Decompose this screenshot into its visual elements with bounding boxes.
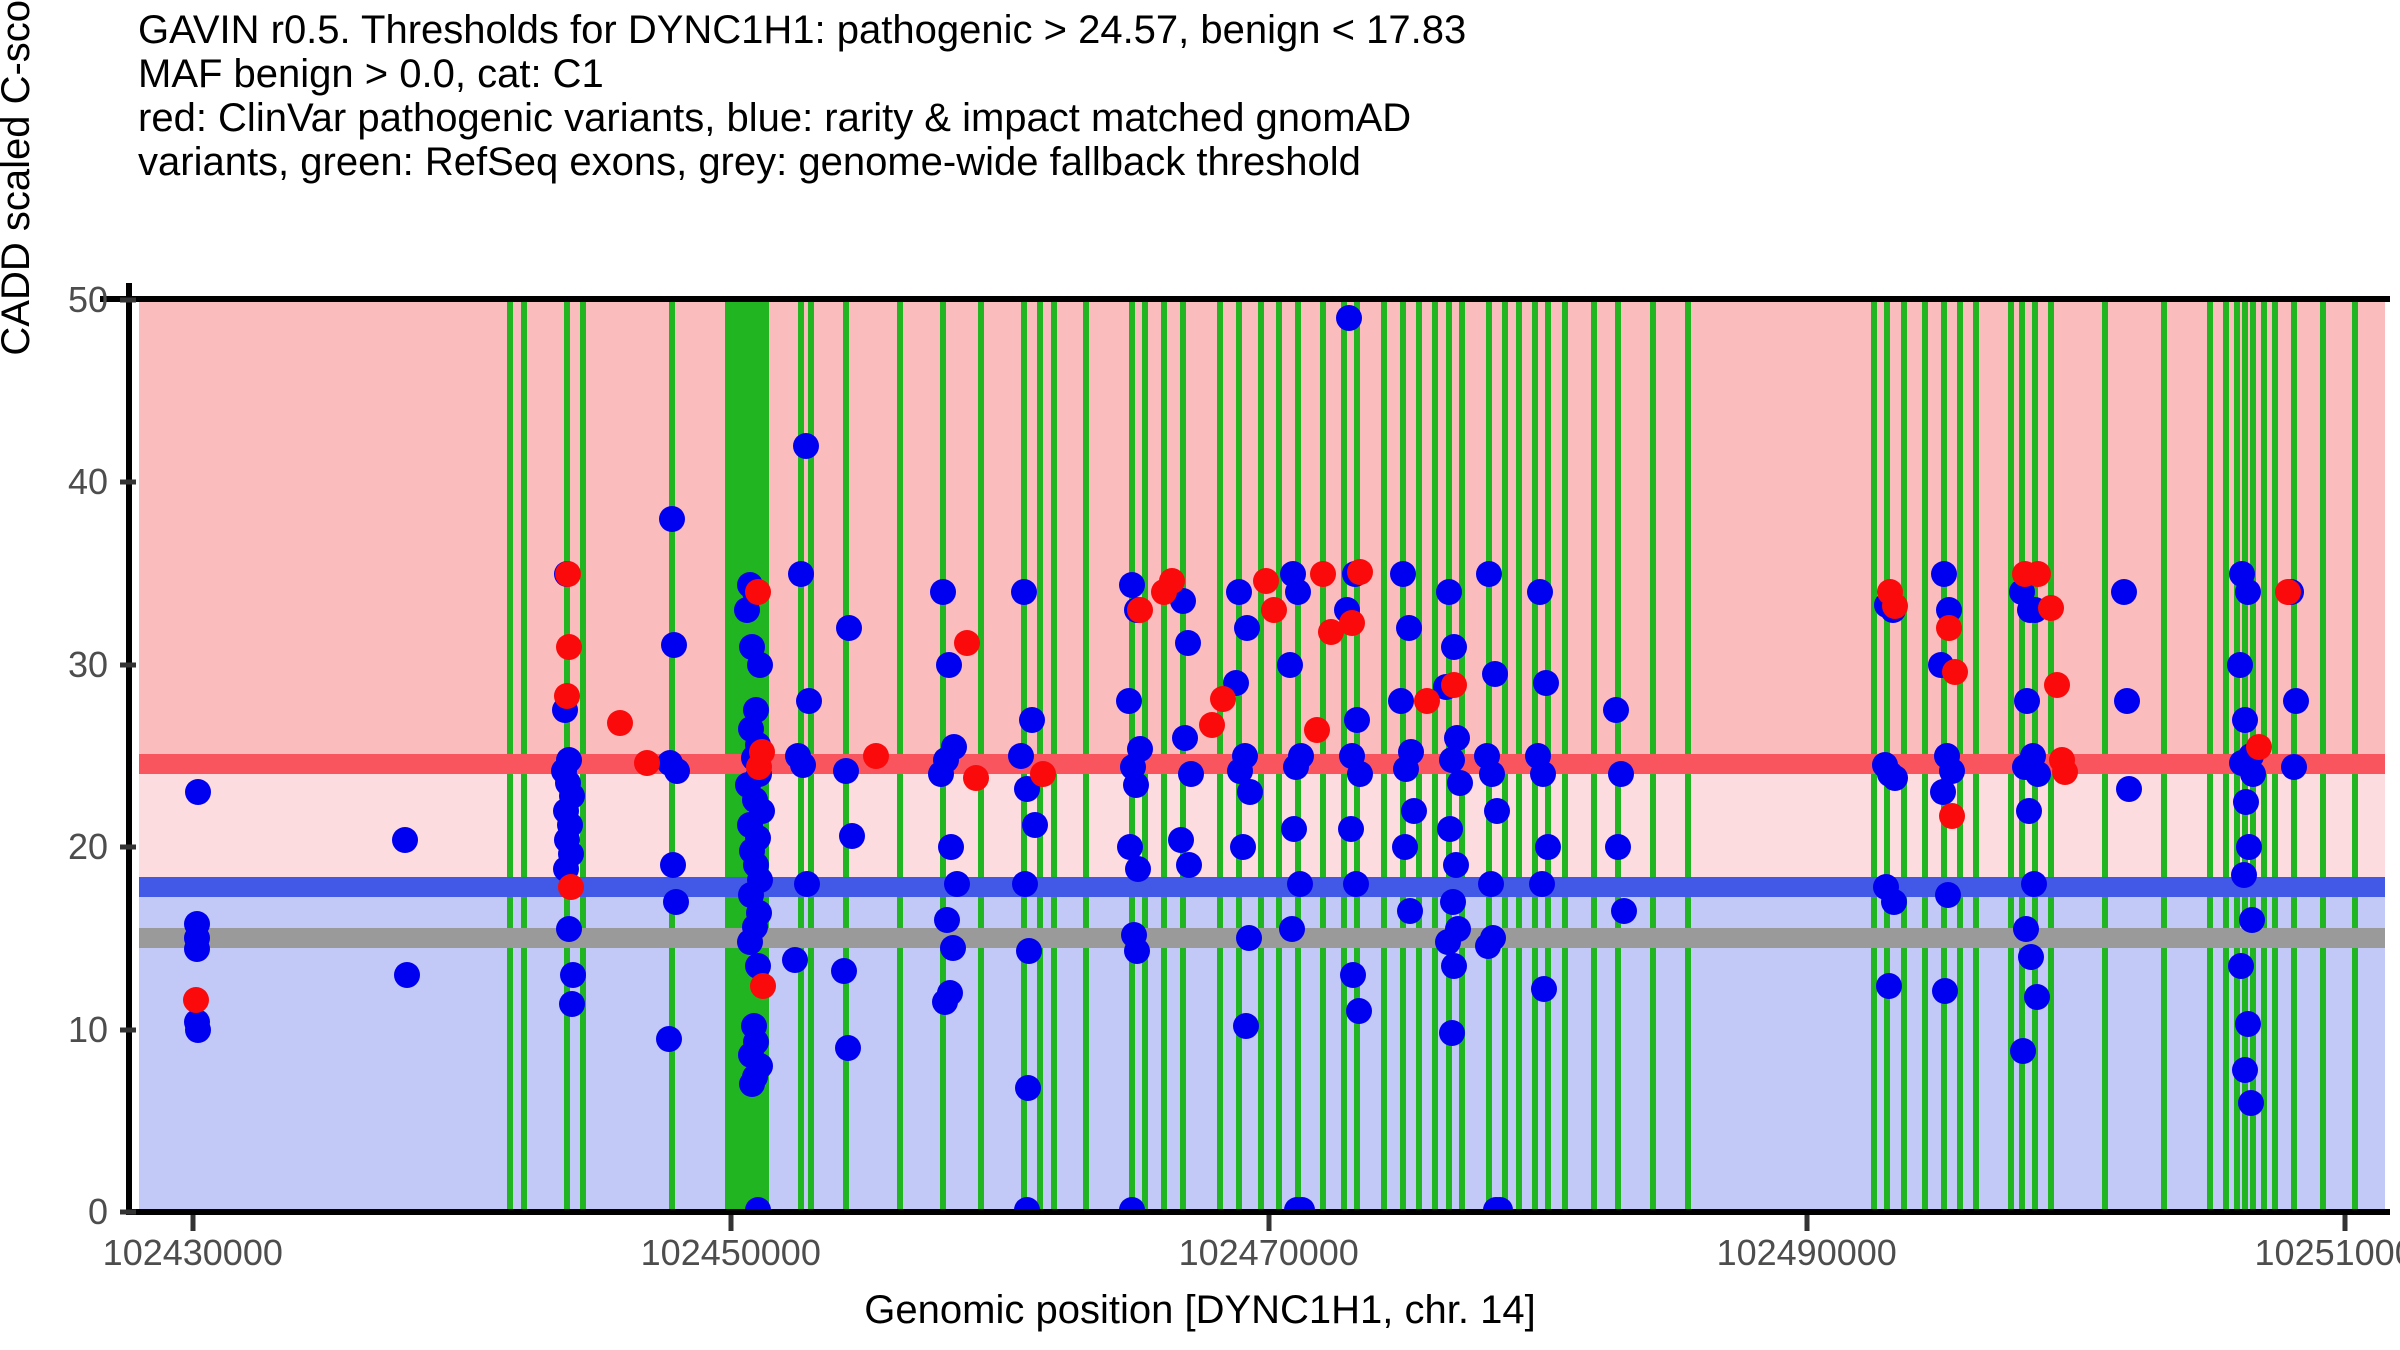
gnomad-variant-point xyxy=(2228,953,2254,979)
gnomad-variant-point xyxy=(185,779,211,805)
gnomad-variant-point xyxy=(1123,772,1149,798)
x-axis-title: Genomic position [DYNC1H1, chr. 14] xyxy=(0,1288,2400,1333)
clinvar-pathogenic-point xyxy=(1261,597,1287,623)
title-line-2: MAF benign > 0.0, cat: C1 xyxy=(138,52,2338,96)
x-tick-label: 102430000 xyxy=(103,1232,283,1274)
clinvar-pathogenic-point xyxy=(558,874,584,900)
gnomad-variant-point xyxy=(2235,1011,2261,1037)
gnomad-variant-point xyxy=(1441,953,1467,979)
gnomad-variant-point xyxy=(833,758,859,784)
y-tick-label: 0 xyxy=(0,1191,108,1233)
y-tick-mark xyxy=(120,845,136,850)
gnomad-variant-point xyxy=(1533,670,1559,696)
gnomad-variant-point xyxy=(661,632,687,658)
y-tick-mark xyxy=(120,298,136,303)
gnomad-variant-point xyxy=(932,989,958,1015)
y-tick-label: 20 xyxy=(0,826,108,868)
gnomad-variant-point xyxy=(1116,688,1142,714)
gnomad-variant-point xyxy=(2227,652,2253,678)
gnomad-variant-point xyxy=(940,935,966,961)
x-tick-label: 102470000 xyxy=(1179,1232,1359,1274)
clinvar-pathogenic-point xyxy=(1127,597,1153,623)
gnomad-variant-point xyxy=(1930,779,1956,805)
gnomad-variant-point xyxy=(928,761,954,787)
gnomad-variant-point xyxy=(1172,725,1198,751)
gnomad-variant-point xyxy=(2281,754,2307,780)
gnomad-variant-point xyxy=(2233,789,2259,815)
gnomad-variant-point xyxy=(1441,634,1467,660)
gnomad-variant-point xyxy=(793,433,819,459)
gnomad-variant-point xyxy=(1393,756,1419,782)
gnomad-variant-point xyxy=(1285,579,1311,605)
clinvar-pathogenic-point xyxy=(963,765,989,791)
clinvar-pathogenic-point xyxy=(863,743,889,769)
x-tick-label: 102510000 xyxy=(2255,1232,2400,1274)
gnomad-variant-point xyxy=(1346,998,1372,1024)
gnomad-variant-point xyxy=(2114,688,2140,714)
clinvar-pathogenic-point xyxy=(750,973,776,999)
x-tick-mark xyxy=(1266,1215,1271,1231)
clinvar-pathogenic-point xyxy=(1253,568,1279,594)
gnomad-variant-point xyxy=(1343,871,1369,897)
gnomad-variant-point xyxy=(1233,1013,1259,1039)
y-tick-mark xyxy=(120,1210,136,1215)
clinvar-pathogenic-point xyxy=(1030,761,1056,787)
x-tick-mark xyxy=(190,1215,195,1231)
gnomad-variant-point xyxy=(1439,747,1465,773)
gnomad-variant-point xyxy=(1015,1075,1041,1101)
gnomad-variant-point xyxy=(659,506,685,532)
gnomad-variant-point xyxy=(392,827,418,853)
gnomad-variant-point xyxy=(1482,661,1508,687)
gnomad-variant-point xyxy=(930,579,956,605)
gnomad-variant-point xyxy=(1881,889,1907,915)
clinvar-pathogenic-point xyxy=(2275,579,2301,605)
clinvar-pathogenic-point xyxy=(554,683,580,709)
gnomad-variant-point xyxy=(2231,862,2257,888)
gnomad-variant-point xyxy=(1397,898,1423,924)
gnomad-variant-point xyxy=(1175,630,1201,656)
y-axis-line xyxy=(126,283,132,1215)
gnomad-variant-point xyxy=(788,561,814,587)
gnomad-variant-point xyxy=(1443,852,1469,878)
gnomad-variant-point xyxy=(1447,770,1473,796)
gnomad-variant-point xyxy=(794,871,820,897)
gnomad-variant-point xyxy=(664,758,690,784)
clinvar-pathogenic-point xyxy=(1310,561,1336,587)
gnomad-variant-point xyxy=(1435,929,1461,955)
gnomad-variant-point xyxy=(1119,572,1145,598)
y-tick-mark xyxy=(120,480,136,485)
gnomad-variant-point xyxy=(1124,938,1150,964)
gnomad-variant-point xyxy=(2018,944,2044,970)
gnomad-variant-point xyxy=(835,1035,861,1061)
gnomad-variant-point xyxy=(1436,579,1462,605)
clinvar-pathogenic-point xyxy=(1347,559,1373,585)
clinvar-pathogenic-point xyxy=(2246,734,2272,760)
gnomad-variant-point xyxy=(944,871,970,897)
gnomad-variant-point xyxy=(1344,707,1370,733)
title-line-4: variants, green: RefSeq exons, grey: gen… xyxy=(138,140,2338,184)
gnomad-variant-point xyxy=(1277,652,1303,678)
gnomad-variant-point xyxy=(737,929,763,955)
clinvar-pathogenic-point xyxy=(556,634,582,660)
gnomad-variant-point xyxy=(1392,834,1418,860)
clinvar-pathogenic-point xyxy=(1939,803,1965,829)
y-tick-mark xyxy=(120,1027,136,1032)
gnomad-variant-point xyxy=(831,958,857,984)
gnomad-variant-point xyxy=(1338,816,1364,842)
gnomad-variant-point xyxy=(1283,754,1309,780)
gnomad-variant-point xyxy=(2232,1057,2258,1083)
gnomad-variant-point xyxy=(559,991,585,1017)
gnomad-variant-point xyxy=(1396,615,1422,641)
panel-top-border xyxy=(100,296,2390,302)
gnomad-variant-point xyxy=(2024,984,2050,1010)
gnomad-variant-point xyxy=(663,889,689,915)
gnomad-variant-point xyxy=(1935,882,1961,908)
gnomad-variant-point xyxy=(1388,688,1414,714)
gnomad-variant-point xyxy=(1876,973,1902,999)
gnomad-variant-point xyxy=(747,652,773,678)
gnomad-variant-point xyxy=(2013,916,2039,942)
gnomad-variant-point xyxy=(2111,579,2137,605)
gnomad-variant-point xyxy=(1401,798,1427,824)
figure-root: GAVIN r0.5. Thresholds for DYNC1H1: path… xyxy=(0,0,2400,1350)
gnomad-variant-point xyxy=(1476,561,1502,587)
figure-title: GAVIN r0.5. Thresholds for DYNC1H1: path… xyxy=(138,8,2338,184)
gnomad-variant-point xyxy=(656,1026,682,1052)
gnomad-variant-point xyxy=(2016,798,2042,824)
gnomad-variant-point xyxy=(1236,925,1262,951)
x-tick-mark xyxy=(2342,1215,2347,1231)
gnomad-variant-point xyxy=(1011,579,1037,605)
gnomad-variant-point xyxy=(1178,761,1204,787)
x-tick-mark xyxy=(728,1215,733,1231)
y-axis-title: CADD scaled C-score xyxy=(0,0,39,470)
gnomad-variant-point xyxy=(1529,871,1555,897)
y-tick-label: 10 xyxy=(0,1009,108,1051)
clinvar-pathogenic-point xyxy=(2025,561,2051,587)
x-tick-label: 102450000 xyxy=(641,1232,821,1274)
clinvar-pathogenic-point xyxy=(1339,610,1365,636)
gnomad-variant-point xyxy=(1440,889,1466,915)
y-tick-mark xyxy=(120,662,136,667)
gnomad-variant-point xyxy=(185,1017,211,1043)
x-tick-label: 102490000 xyxy=(1717,1232,1897,1274)
gnomad-variant-point xyxy=(839,823,865,849)
clinvar-pathogenic-point xyxy=(1159,568,1185,594)
gnomad-variant-point xyxy=(936,652,962,678)
gnomad-variant-point xyxy=(1168,827,1194,853)
gnomad-variant-point xyxy=(2239,907,2265,933)
gnomad-variant-point xyxy=(796,688,822,714)
clinvar-pathogenic-point xyxy=(555,561,581,587)
gnomad-variant-point xyxy=(1019,707,1045,733)
gnomad-variant-point xyxy=(1931,561,1957,587)
gnomad-variant-point xyxy=(1484,798,1510,824)
gnomad-variant-point xyxy=(1439,1020,1465,1046)
clinvar-pathogenic-point xyxy=(746,754,772,780)
fallback-threshold-line xyxy=(139,928,2385,948)
y-tick-label: 30 xyxy=(0,644,108,686)
gnomad-variant-point xyxy=(1287,871,1313,897)
gnomad-variant-point xyxy=(1012,871,1038,897)
gnomad-variant-point xyxy=(1390,561,1416,587)
title-line-1: GAVIN r0.5. Thresholds for DYNC1H1: path… xyxy=(138,8,2338,52)
panel-bottom-border xyxy=(128,1209,2390,1215)
gnomad-variant-point xyxy=(2235,579,2261,605)
benign-threshold-line xyxy=(139,877,2385,897)
gnomad-variant-point xyxy=(1475,933,1501,959)
gnomad-variant-point xyxy=(1603,697,1629,723)
gnomad-variant-point xyxy=(1279,916,1305,942)
clinvar-pathogenic-point xyxy=(1942,659,1968,685)
gnomad-variant-point xyxy=(2232,707,2258,733)
gnomad-variant-point xyxy=(2238,1090,2264,1116)
clinvar-pathogenic-point xyxy=(745,579,771,605)
gnomad-variant-point xyxy=(1611,898,1637,924)
clinvar-pathogenic-point xyxy=(2044,672,2070,698)
gnomad-variant-point xyxy=(1022,812,1048,838)
gnomad-variant-point xyxy=(1478,871,1504,897)
gnomad-variant-point xyxy=(2021,871,2047,897)
clinvar-pathogenic-point xyxy=(1441,672,1467,698)
x-tick-mark xyxy=(1804,1215,1809,1231)
plot-panel xyxy=(139,300,2385,1212)
gnomad-variant-point xyxy=(394,962,420,988)
gnomad-variant-point xyxy=(1226,579,1252,605)
title-line-3: red: ClinVar pathogenic variants, blue: … xyxy=(138,96,2338,140)
